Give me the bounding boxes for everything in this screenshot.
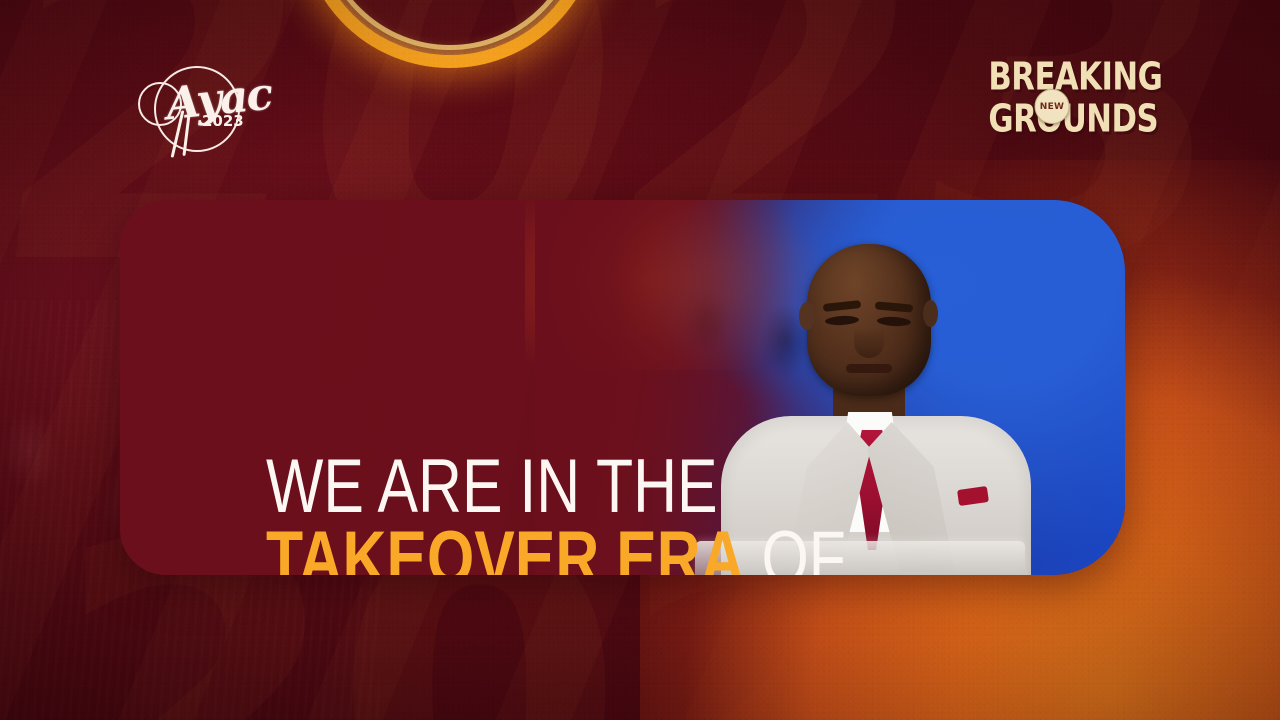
figure-ear-left <box>799 302 815 330</box>
figure-mouth <box>846 364 892 373</box>
title-line-2-accent: TAKEOVER ERA <box>266 516 745 575</box>
title-line-1: WE ARE IN THE <box>266 452 846 522</box>
title-line-2: TAKEOVER ERA OF <box>266 524 846 575</box>
bng-new-badge: NEW <box>1035 89 1070 124</box>
breaking-new-grounds-logo: BREAKING GROUNDS NEW <box>992 58 1112 129</box>
bng-new-badge-label: NEW <box>1040 102 1065 112</box>
poster-stage: 2023 2023 Ayac 2023 BREAKING GROUNDS NEW <box>0 0 1280 720</box>
sermon-title: WE ARE IN THE TAKEOVER ERA OF THE CHURCH <box>266 452 991 575</box>
figure-nose <box>854 328 884 358</box>
ayac-logo-year: 2023 <box>202 112 244 130</box>
title-line-2-rest: OF <box>761 516 845 575</box>
figure-ear-right <box>923 300 938 327</box>
announcement-card: WE ARE IN THE TAKEOVER ERA OF THE CHURCH… <box>120 200 1125 575</box>
ayac-logo: Ayac 2023 <box>140 58 255 163</box>
